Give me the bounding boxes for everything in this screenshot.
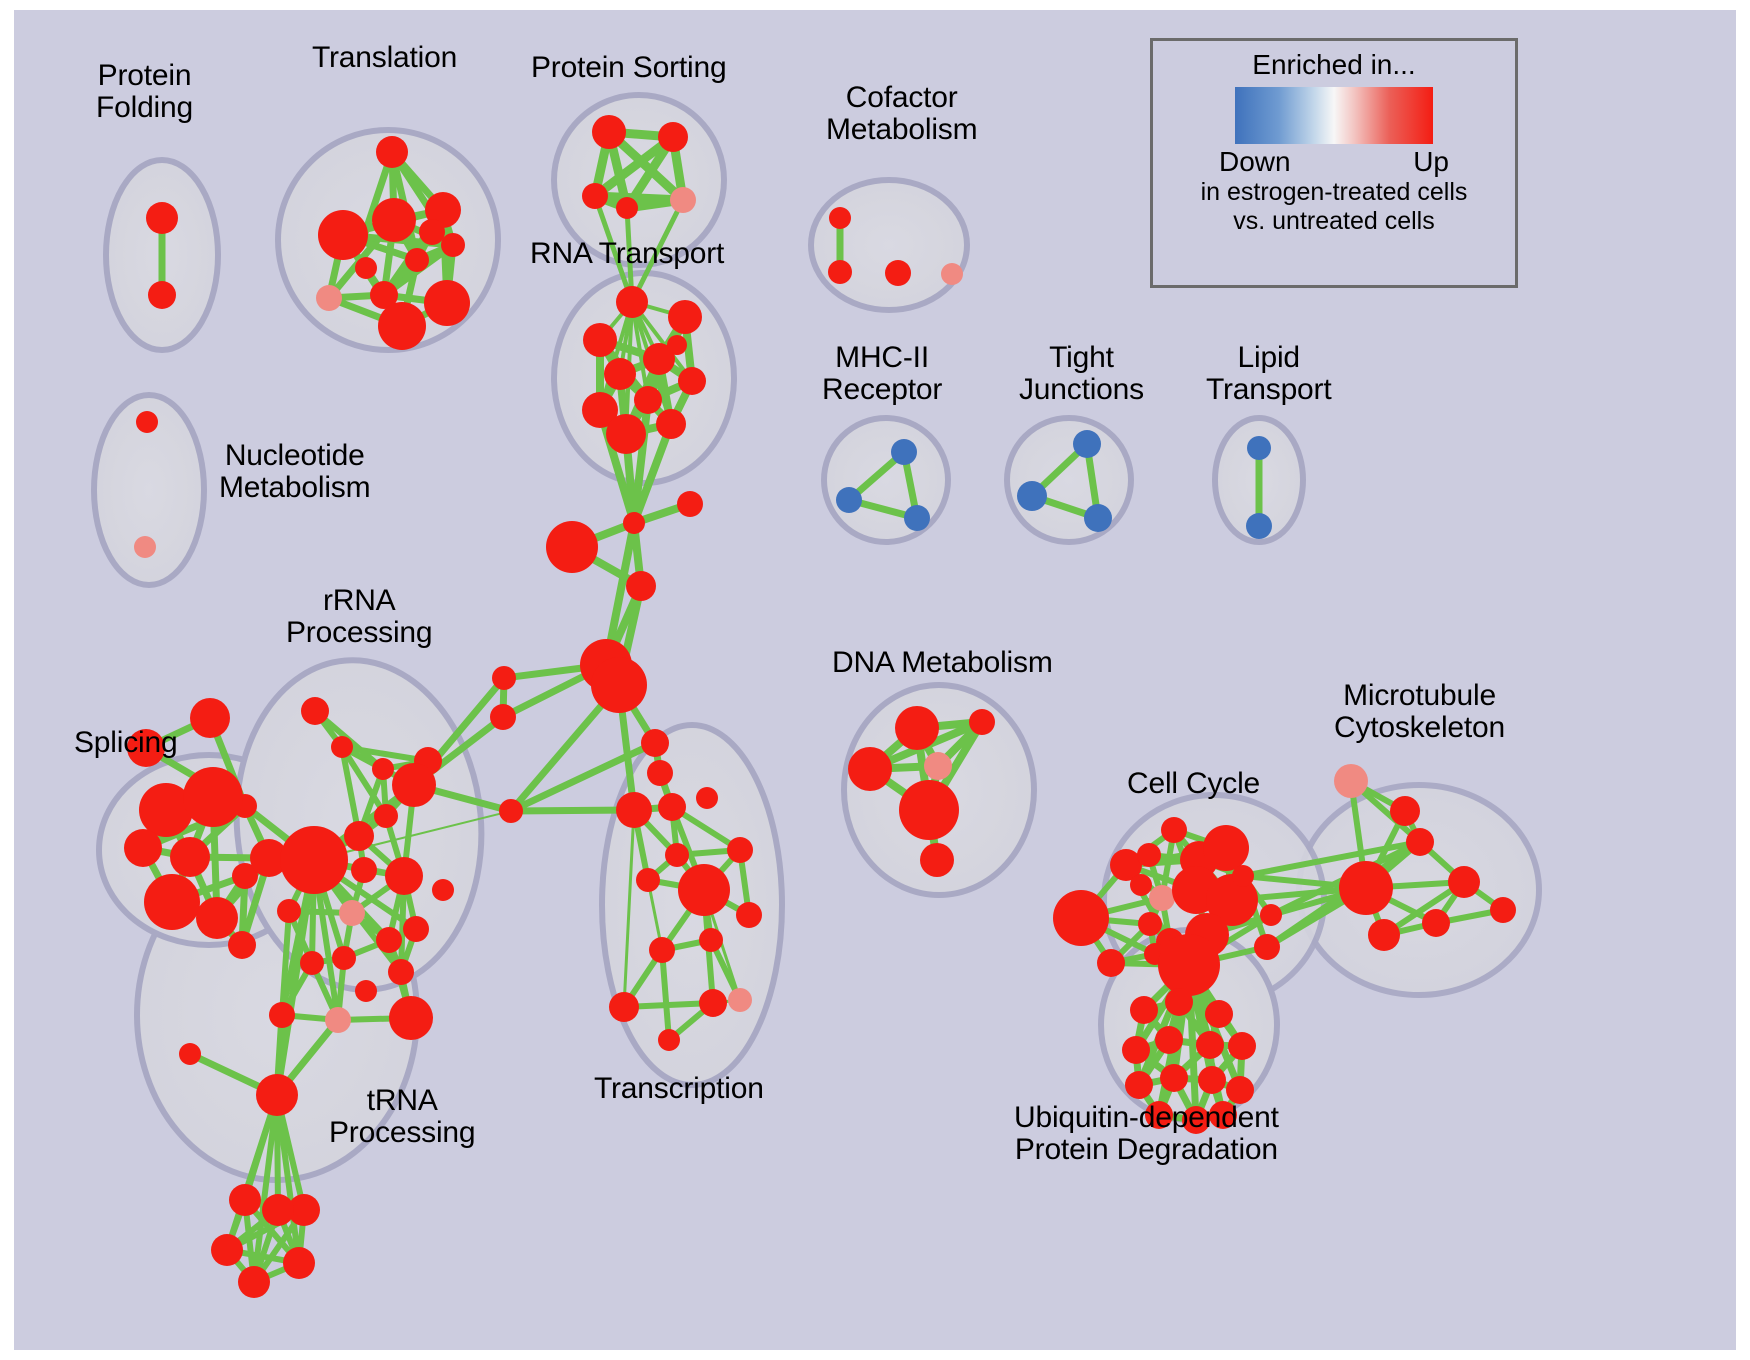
node [490, 704, 516, 730]
cluster-label-protein-sorting: Protein Sorting [531, 52, 726, 84]
node [641, 729, 669, 757]
node [636, 868, 660, 892]
node [148, 281, 176, 309]
node [283, 1247, 315, 1279]
node [1368, 919, 1400, 951]
node [848, 747, 892, 791]
node [1203, 825, 1249, 871]
node [300, 951, 324, 975]
node [1130, 874, 1152, 896]
node [355, 980, 377, 1002]
node [656, 409, 686, 439]
node [904, 505, 930, 531]
node [1053, 890, 1109, 946]
node [665, 843, 689, 867]
node [592, 115, 626, 149]
node [432, 879, 454, 901]
node [190, 698, 230, 738]
node [647, 760, 673, 786]
cluster-label-rna-transport: RNA Transport [530, 238, 724, 270]
node [678, 367, 706, 395]
cluster-label-translation: Translation [312, 42, 457, 74]
node [331, 736, 353, 758]
node [1198, 1066, 1226, 1094]
node [546, 521, 598, 573]
node [699, 989, 727, 1017]
node [1130, 996, 1158, 1024]
node [604, 358, 636, 390]
node [658, 793, 686, 821]
cluster-label-protein-folding: Protein Folding [96, 60, 193, 125]
legend-caption-line2: vs. untreated cells [1233, 207, 1435, 236]
node [696, 787, 718, 809]
node [829, 207, 851, 229]
node [895, 706, 939, 750]
node [1260, 904, 1282, 926]
node [1097, 949, 1125, 977]
node [211, 1234, 243, 1266]
cluster-hull-cofactor-metabolism [811, 180, 967, 310]
node [136, 411, 158, 433]
node [634, 386, 662, 414]
legend-caption-line1: in estrogen-treated cells [1201, 178, 1468, 207]
node [616, 286, 648, 318]
node [388, 959, 414, 985]
node [1390, 796, 1420, 826]
node [828, 260, 852, 284]
node [736, 902, 762, 928]
node [658, 1029, 680, 1051]
node [376, 136, 408, 168]
node [591, 657, 647, 713]
node [1084, 504, 1112, 532]
node [1246, 513, 1272, 539]
node [1073, 430, 1101, 458]
node [1448, 866, 1480, 898]
node [280, 826, 348, 894]
node [374, 804, 398, 828]
node [1138, 912, 1162, 936]
node [355, 257, 377, 279]
cluster-label-microtubule-cytoskeleton: Microtubule Cytoskeleton [1334, 680, 1505, 745]
cluster-label-dna-metabolism: DNA Metabolism [832, 647, 1053, 679]
node [196, 897, 238, 939]
node [583, 323, 617, 357]
cluster-hull-tight-junctions [1007, 418, 1131, 542]
node [920, 843, 954, 877]
node [891, 439, 917, 465]
legend-low-label: Down [1219, 146, 1291, 178]
node [424, 280, 470, 326]
node [179, 1043, 201, 1065]
node [316, 285, 342, 311]
node [1125, 1071, 1153, 1099]
node [351, 857, 377, 883]
node [1406, 828, 1434, 856]
node [392, 763, 436, 807]
node [1490, 897, 1516, 923]
node [1160, 1064, 1188, 1092]
node [144, 874, 200, 930]
node [262, 1194, 294, 1226]
cluster-label-transcription: Transcription [594, 1073, 764, 1105]
node [318, 210, 368, 260]
node [385, 857, 423, 895]
node [1149, 885, 1175, 911]
node [441, 233, 465, 257]
node [183, 767, 243, 827]
node [170, 837, 210, 877]
node [301, 697, 329, 725]
node [649, 937, 675, 963]
node [678, 864, 730, 916]
node [124, 829, 162, 867]
node [269, 1002, 295, 1028]
node [616, 792, 652, 828]
node [727, 837, 753, 863]
node [344, 821, 374, 851]
node [677, 491, 703, 517]
node [924, 752, 952, 780]
node [403, 916, 429, 942]
node [609, 992, 639, 1022]
node [229, 1184, 261, 1216]
node [372, 198, 416, 242]
node [376, 927, 402, 953]
node [1122, 1036, 1150, 1064]
node [378, 302, 426, 350]
node [1334, 764, 1368, 798]
node [277, 899, 301, 923]
node [325, 1007, 351, 1033]
node [339, 900, 365, 926]
legend-panel: Enriched in... Down Up in estrogen-treat… [1150, 38, 1518, 288]
node [728, 988, 752, 1012]
node [1155, 1026, 1183, 1054]
node [1158, 934, 1220, 996]
node [372, 758, 394, 780]
legend-high-label: Up [1413, 146, 1449, 178]
node [1226, 1076, 1254, 1104]
node [389, 996, 433, 1040]
node [626, 571, 656, 601]
node [1165, 988, 1193, 1016]
node [699, 928, 723, 952]
cluster-label-cofactor-metabolism: Cofactor Metabolism [826, 82, 977, 147]
cluster-label-trna-processing: tRNA Processing [329, 1085, 475, 1150]
node [667, 335, 687, 355]
node [899, 780, 959, 840]
cluster-label-rrna-processing: rRNA Processing [286, 585, 432, 650]
node [499, 799, 523, 823]
node [238, 1266, 270, 1298]
node [228, 931, 256, 959]
network-panel: Protein Folding Translation Nucleotide M… [14, 10, 1736, 1350]
node [969, 709, 995, 735]
cluster-label-cell-cycle: Cell Cycle [1127, 768, 1260, 800]
cluster-label-nucleotide-metabolism: Nucleotide Metabolism [219, 440, 370, 505]
node [658, 122, 688, 152]
node [256, 1074, 298, 1116]
node [1161, 817, 1187, 843]
node [1205, 1000, 1233, 1028]
node [606, 414, 646, 454]
node [1137, 843, 1161, 867]
node [941, 263, 963, 285]
node [134, 536, 156, 558]
legend-endpoints: Down Up [1219, 146, 1449, 178]
cluster-label-ubiquitin-protein-degradation: Ubiquitin-dependent Protein Degradation [1014, 1102, 1279, 1167]
node [670, 187, 696, 213]
node [1422, 909, 1450, 937]
node [1254, 934, 1280, 960]
cluster-label-tight-junctions: Tight Junctions [1019, 342, 1144, 407]
cluster-hull-mhc-ii-receptor [824, 418, 948, 542]
cluster-label-splicing: Splicing [74, 727, 177, 759]
node [623, 512, 645, 534]
node [616, 197, 638, 219]
node [405, 248, 429, 272]
cluster-label-lipid-transport: Lipid Transport [1206, 342, 1331, 407]
node [1196, 1031, 1224, 1059]
legend-title: Enriched in... [1252, 49, 1415, 81]
legend-color-gradient [1235, 87, 1433, 144]
node [582, 183, 608, 209]
node [1339, 861, 1393, 915]
node [1228, 1032, 1256, 1060]
node [492, 666, 516, 690]
node [1247, 436, 1271, 460]
node [146, 202, 178, 234]
figure-canvas: Protein Folding Translation Nucleotide M… [0, 0, 1750, 1360]
node [1017, 481, 1047, 511]
node [419, 219, 445, 245]
node [836, 487, 862, 513]
node [1232, 865, 1254, 887]
node [332, 946, 356, 970]
cluster-label-mhc-ii-receptor: MHC-II Receptor [822, 342, 942, 407]
node [668, 300, 702, 334]
node [885, 260, 911, 286]
